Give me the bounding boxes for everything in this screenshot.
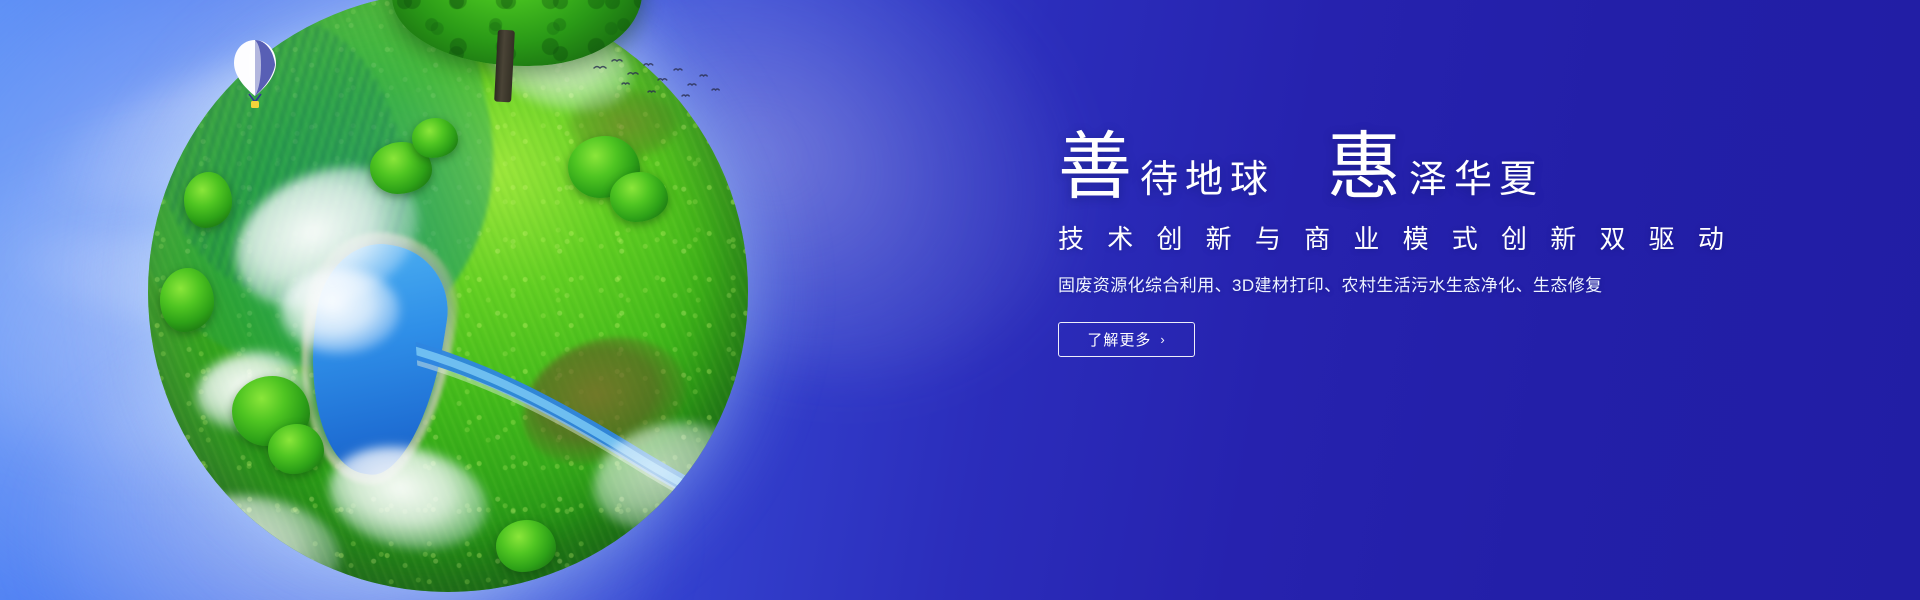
page-title: 善 待地球 惠 泽华夏 <box>1058 132 1778 203</box>
headline-lead-char: 善 <box>1058 132 1132 203</box>
headline-phrase-one: 善 待地球 <box>1058 132 1275 203</box>
tree-canopy <box>610 172 668 222</box>
tree-canopy <box>652 496 726 558</box>
headline-rest-chars: 泽华夏 <box>1409 160 1544 198</box>
headline-phrase-two: 惠 泽华夏 <box>1327 132 1544 203</box>
subtitle: 技 术 创 新 与 商 业 模 式 创 新 双 驱 动 <box>1058 219 1778 256</box>
tree-canopy <box>268 424 324 474</box>
tree-canopy <box>184 172 232 228</box>
planet-cloud <box>280 268 400 354</box>
headline-lead-char: 惠 <box>1327 132 1401 203</box>
tree-canopy <box>496 520 556 572</box>
bird-flock-icon <box>588 52 728 104</box>
tree-canopy <box>160 268 214 332</box>
hero-copy: 善 待地球 惠 泽华夏 技 术 创 新 与 商 业 模 式 创 新 双 驱 动 … <box>1058 132 1778 357</box>
hero-banner: 善 待地球 惠 泽华夏 技 术 创 新 与 商 业 模 式 创 新 双 驱 动 … <box>0 0 1920 600</box>
hot-air-balloon-icon <box>232 38 278 116</box>
headline-rest-chars: 待地球 <box>1140 160 1275 198</box>
tree-canopy <box>412 118 458 158</box>
chevron-right-icon: › <box>1160 333 1165 346</box>
description-text: 固废资源化综合利用、3D建材打印、农村生活污水生态净化、生态修复 <box>1058 271 1778 296</box>
learn-more-button[interactable]: 了解更多 › <box>1058 322 1195 357</box>
learn-more-label: 了解更多 <box>1087 329 1151 350</box>
